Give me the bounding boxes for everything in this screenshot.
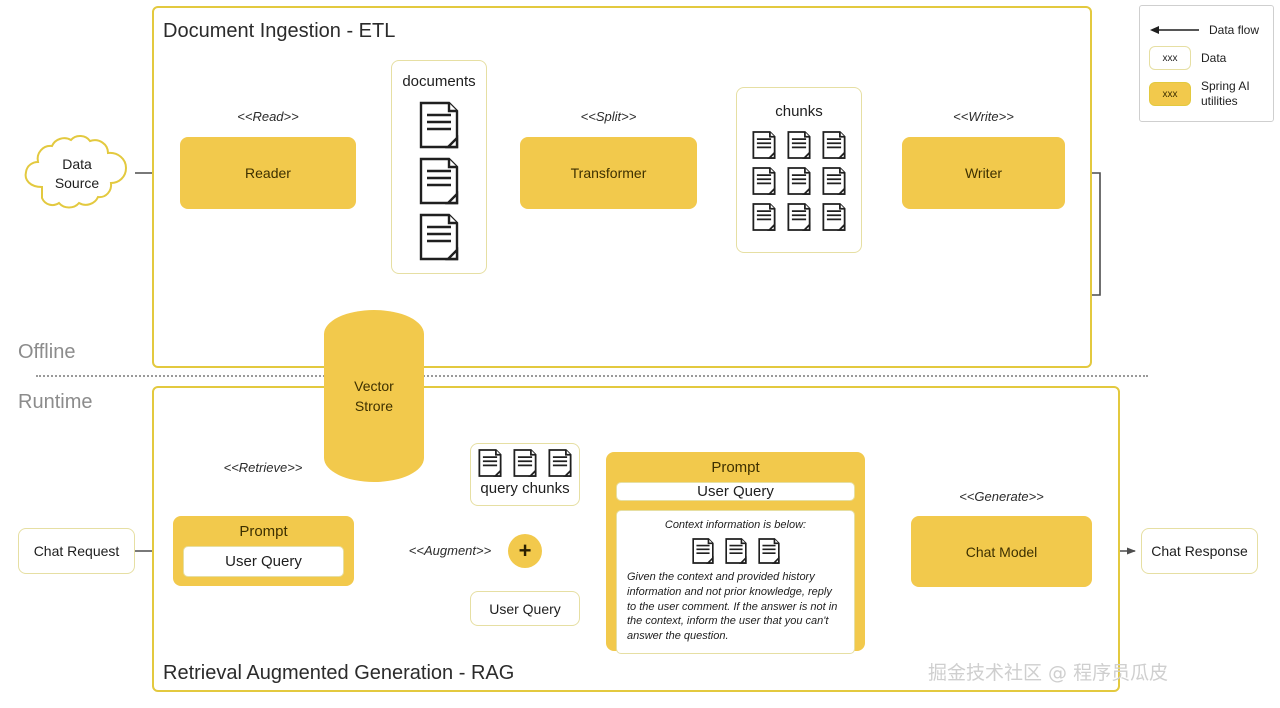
data-source-line2: Source [55,174,99,193]
write-stereotype-label: <<Write>> [902,109,1065,124]
doc-row [417,156,461,206]
doc-row [417,100,461,150]
documents-label: documents [391,73,487,90]
legend-label-data: Data [1201,51,1226,66]
diagram-canvas: Document Ingestion - ETL Data Source <<R… [0,0,1280,708]
prompt-full-title: Prompt [606,452,865,482]
document-icon [821,166,847,196]
document-icon [751,130,777,160]
document-icon [417,212,461,262]
generate-stereotype-label: <<Generate>> [911,489,1092,504]
document-icon [751,166,777,196]
vector-store-line2: Strore [354,396,394,416]
doc-row [627,537,844,565]
offline-runtime-divider [36,375,1148,377]
prompt-full-card[interactable]: Prompt User Query Context information is… [606,452,865,651]
document-icon [512,448,538,478]
query-chunks-icons [470,448,580,482]
data-source-line1: Data [62,155,92,174]
document-icon [691,537,715,565]
read-stereotype-label: <<Read>> [180,109,356,124]
document-icon [786,202,812,232]
document-icon [417,156,461,206]
rag-section-title: Retrieval Augmented Generation - RAG [163,662,514,685]
data-source-cloud: Data Source [16,135,138,213]
retrieve-stereotype-label: <<Retrieve>> [193,460,333,475]
doc-row [417,212,461,262]
augment-plus-icon[interactable]: + [508,534,542,568]
doc-row [470,448,580,478]
context-heading: Context information is below: [627,518,844,533]
prompt-full-user-query[interactable]: User Query [616,482,855,501]
legend-row-dataflow: Data flow [1149,20,1264,40]
legend-row-utilities: xxx Spring AI utilities [1149,79,1269,109]
phase-label-offline: Offline [18,341,75,364]
document-icon [821,202,847,232]
document-icon [757,537,781,565]
document-icon [821,130,847,160]
doc-row [751,202,847,232]
vector-store-line1: Vector [354,376,394,396]
legend-chip-utilities: xxx [1149,82,1191,106]
chunks-label: chunks [736,103,862,120]
phase-label-runtime: Runtime [18,391,92,414]
chat-response-box[interactable]: Chat Response [1141,528,1258,574]
vector-store-node[interactable]: Vector Strore [324,310,424,482]
watermark-text: 掘金技术社区 @ 程序员瓜皮 [928,658,1168,685]
doc-row [751,130,847,160]
chat-request-box[interactable]: Chat Request [18,528,135,574]
document-icon [751,202,777,232]
etl-section-title: Document Ingestion - ETL [163,20,395,43]
document-icon [786,166,812,196]
legend-chip-data: xxx [1149,46,1191,70]
legend-label-dataflow: Data flow [1209,23,1259,38]
document-icon [417,100,461,150]
prompt-left-user-query[interactable]: User Query [183,546,344,577]
writer-node[interactable]: Writer [902,137,1065,209]
legend-row-data: xxx Data [1149,46,1264,70]
query-chunks-label: query chunks [470,480,580,497]
prompt-left-card[interactable]: Prompt User Query [173,516,354,586]
doc-row [751,166,847,196]
transformer-node[interactable]: Transformer [520,137,697,209]
arrow-left-icon [1149,23,1201,37]
augment-stereotype-label: <<Augment>> [400,543,500,558]
chat-model-node[interactable]: Chat Model [911,516,1092,587]
prompt-full-body: Context information is below: [616,510,855,654]
reader-node[interactable]: Reader [180,137,356,209]
user-query-box[interactable]: User Query [470,591,580,626]
documents-icon-grid [391,100,487,268]
split-stereotype-label: <<Split>> [520,109,697,124]
prompt-instructions: Given the context and provided history i… [627,570,844,644]
document-icon [786,130,812,160]
prompt-left-title: Prompt [173,516,354,546]
document-icon [477,448,503,478]
document-icon [547,448,573,478]
legend-label-utilities: Spring AI utilities [1201,79,1250,109]
legend-utilities-line1: Spring AI [1201,79,1250,93]
document-icon [724,537,748,565]
chunks-icon-grid [736,130,862,248]
legend-utilities-line2: utilities [1201,94,1238,108]
